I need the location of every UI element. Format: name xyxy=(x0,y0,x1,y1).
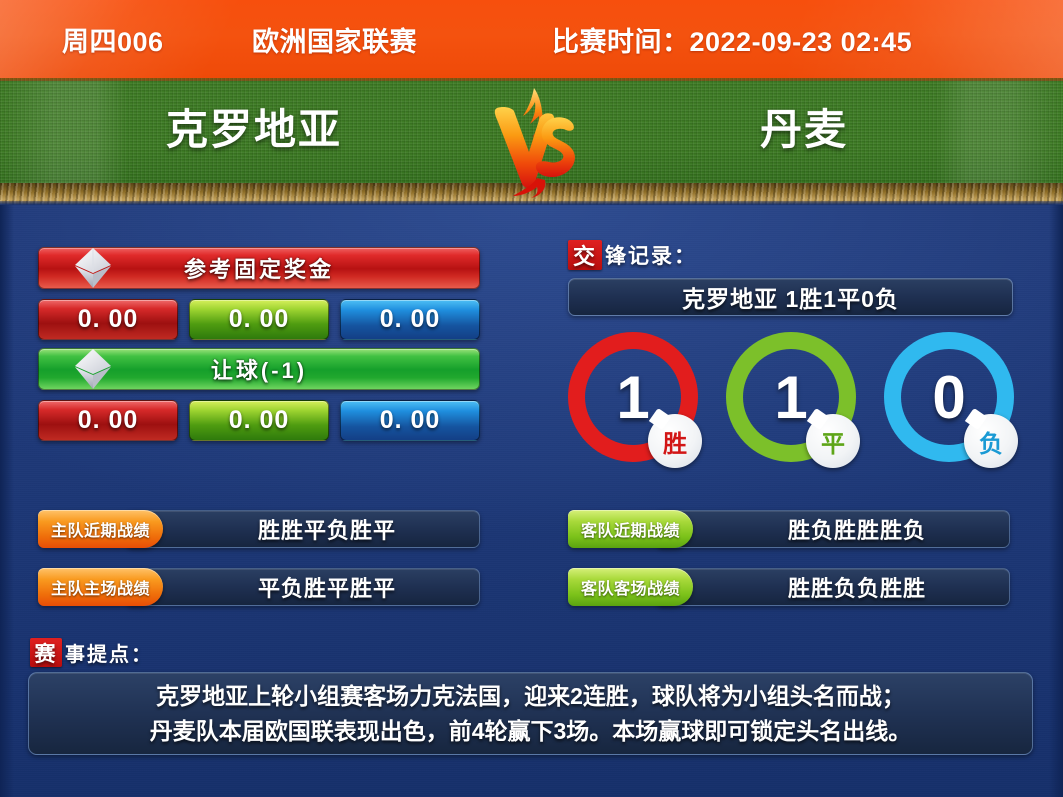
match-header-bar: 周四006 欧洲国家联赛 比赛时间：2022-09-23 02:45 xyxy=(0,0,1063,78)
home-home-form-label: 主队主场战绩 xyxy=(38,568,163,606)
away-recent-form-value: 胜负胜胜胜负 xyxy=(656,510,1010,548)
handicap-win-odds[interactable]: 0. 00 xyxy=(38,400,178,441)
handicap-odds-row: 0. 00 0. 00 0. 00 xyxy=(38,400,480,441)
away-away-form-row: 胜胜负负胜胜 客队客场战绩 xyxy=(568,568,1010,606)
match-notes-line-1: 克罗地亚上轮小组赛客场力克法国，迎来2连胜，球队将为小组头名而战； xyxy=(156,679,905,714)
notes-title-text: 事提点： xyxy=(65,638,153,667)
handicap-draw-odds[interactable]: 0. 00 xyxy=(189,400,329,441)
match-notes-box: 克罗地亚上轮小组赛客场力克法国，迎来2连胜，球队将为小组头名而战； 丹麦队本届欧… xyxy=(28,672,1033,755)
away-team-name: 丹麦 xyxy=(760,96,848,157)
h2h-title-text: 锋记录： xyxy=(605,240,697,270)
away-recent-form-label: 客队近期战绩 xyxy=(568,510,693,548)
notes-title-chip: 赛 xyxy=(30,638,62,667)
h2h-lose-ring: 0 负 xyxy=(884,332,1014,462)
h2h-draw-ring: 1 平 xyxy=(726,332,856,462)
handicap-lose-odds[interactable]: 0. 00 xyxy=(340,400,480,441)
diamond-gem-icon xyxy=(73,347,113,391)
vs-flame-icon xyxy=(487,86,583,198)
fixed-bonus-lose-odds[interactable]: 0. 00 xyxy=(340,299,480,340)
head-to-head-summary: 克罗地亚 1胜1平0负 xyxy=(568,278,1013,316)
draw-label-badge: 平 xyxy=(806,414,860,468)
fixed-bonus-title-text: 参考固定奖金 xyxy=(184,252,334,284)
panel-left-edge-shadow xyxy=(0,205,14,797)
head-to-head-section-title: 交 锋记录： xyxy=(568,240,1013,270)
h2h-win-ring: 1 胜 xyxy=(568,332,698,462)
match-time-label: 比赛时间：2022-09-23 02:45 xyxy=(552,20,912,59)
home-recent-form-value: 胜胜平负胜平 xyxy=(126,510,480,548)
diamond-gem-icon xyxy=(73,246,113,290)
home-recent-form-row: 胜胜平负胜平 主队近期战绩 xyxy=(38,510,480,548)
league-name-label: 欧洲国家联赛 xyxy=(252,20,552,59)
handicap-title-text: 让球(-1) xyxy=(211,353,307,385)
match-round-label: 周四006 xyxy=(62,20,252,59)
lose-label-badge: 负 xyxy=(964,414,1018,468)
fixed-bonus-draw-odds[interactable]: 0. 00 xyxy=(189,299,329,340)
handicap-title-bar: 让球(-1) xyxy=(38,348,480,390)
match-notes-line-2: 丹麦队本届欧国联表现出色，前4轮赢下3场。本场赢球即可锁定头名出线。 xyxy=(150,714,912,749)
away-away-form-value: 胜胜负负胜胜 xyxy=(656,568,1010,606)
fixed-bonus-win-odds[interactable]: 0. 00 xyxy=(38,299,178,340)
panel-right-edge-shadow xyxy=(1049,205,1063,797)
fixed-bonus-title-bar: 参考固定奖金 xyxy=(38,247,480,289)
head-to-head-panel: 交 锋记录： 克罗地亚 1胜1平0负 1 胜 1 平 0 负 xyxy=(568,240,1013,467)
odds-panel: 参考固定奖金 0. 00 0. 00 0. 00 让球(-1) 0. 00 0.… xyxy=(38,247,480,441)
home-home-form-row: 平负胜平胜平 主队主场战绩 xyxy=(38,568,480,606)
win-label-badge: 胜 xyxy=(648,414,702,468)
match-preview-graphic: 周四006 欧洲国家联赛 比赛时间：2022-09-23 02:45 克罗地亚 … xyxy=(0,0,1063,797)
away-recent-form-row: 胜负胜胜胜负 客队近期战绩 xyxy=(568,510,1010,548)
home-home-form-value: 平负胜平胜平 xyxy=(126,568,480,606)
fixed-bonus-odds-row: 0. 00 0. 00 0. 00 xyxy=(38,299,480,340)
home-recent-form-label: 主队近期战绩 xyxy=(38,510,163,548)
h2h-title-chip: 交 xyxy=(568,240,602,270)
head-to-head-rings: 1 胜 1 平 0 负 xyxy=(568,332,1013,467)
away-away-form-label: 客队客场战绩 xyxy=(568,568,693,606)
match-notes-title: 赛 事提点： xyxy=(30,638,153,667)
home-team-name: 克罗地亚 xyxy=(166,96,342,157)
